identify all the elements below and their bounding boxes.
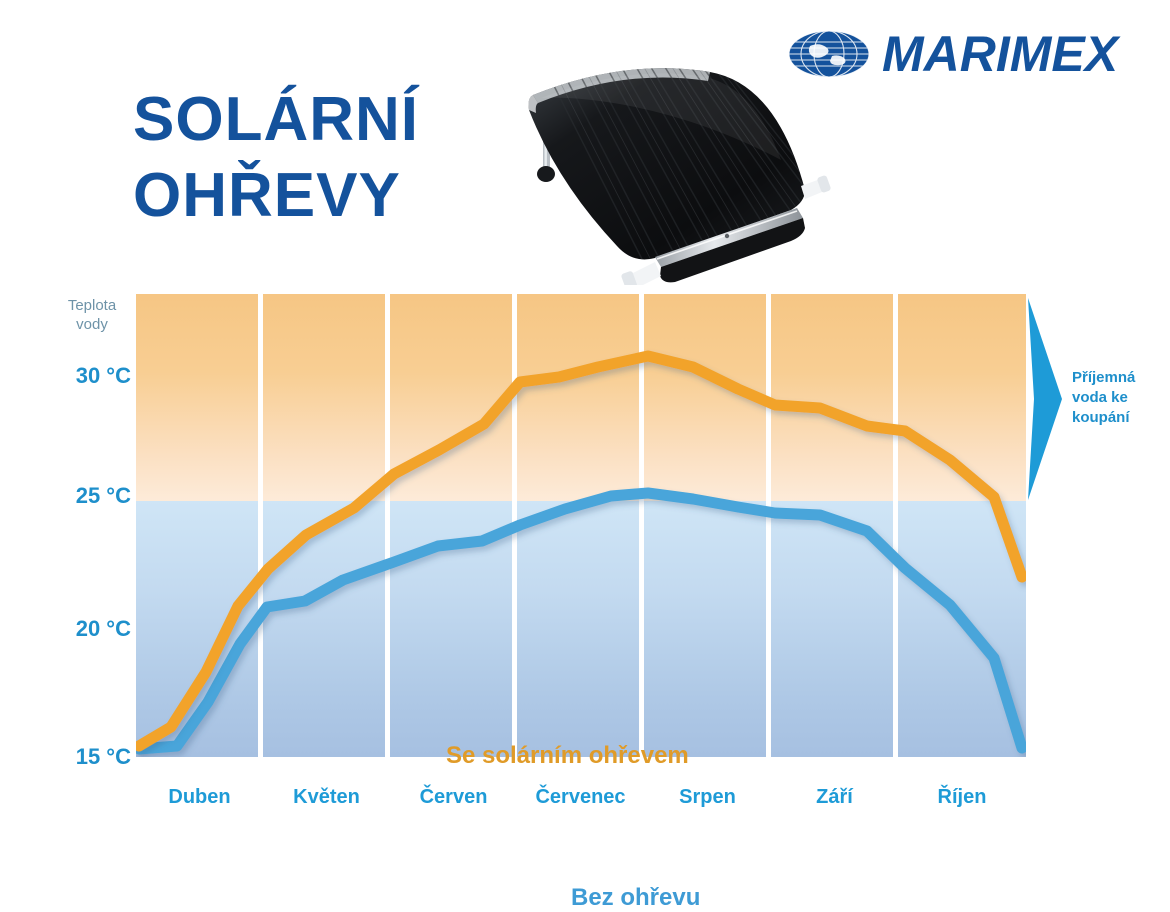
x-axis-tick-srpen: Srpen: [644, 786, 771, 809]
y-axis-caption-line-2: vody: [53, 315, 131, 334]
temperature-chart: Se solárním ohřevem Bez ohřevu: [136, 294, 1026, 757]
y-axis-caption-line-1: Teplota: [53, 296, 131, 315]
annotation-line-1: Příjemná: [1072, 368, 1164, 388]
poster-canvas: SOLÁRNÍ OHŘEVY MARIMEX: [0, 0, 1170, 860]
x-axis-tick-rijen: Říjen: [898, 786, 1026, 809]
chart-plot-area: [136, 294, 1026, 757]
series-line-bez-ohrevu: [139, 493, 1022, 749]
page-title: SOLÁRNÍ OHŘEVY: [133, 82, 419, 234]
x-axis-tick-cerven: Červen: [390, 786, 517, 809]
annotation-line-2: voda ke: [1072, 388, 1164, 408]
y-axis-tick-25: 25 °C: [25, 483, 131, 509]
y-axis-tick-20: 20 °C: [25, 616, 131, 642]
y-axis-caption: Teplota vody: [53, 296, 131, 334]
brand-name: MARIMEX: [882, 29, 1118, 79]
series-label-no-heating: Bez ohřevu: [571, 884, 700, 912]
x-axis-tick-kveten: Květen: [263, 786, 390, 809]
title-line-2: OHŘEVY: [133, 158, 419, 234]
solar-panel-image: [505, 50, 845, 285]
annotation-comfortable-water: Příjemná voda ke koupání: [1072, 368, 1164, 428]
title-line-1: SOLÁRNÍ: [133, 85, 419, 154]
x-axis-tick-cervenec: Červenec: [517, 786, 644, 809]
annotation-line-3: koupání: [1072, 408, 1164, 428]
x-axis-tick-duben: Duben: [136, 786, 263, 809]
y-axis-tick-30: 30 °C: [25, 363, 131, 389]
series-label-solar: Se solárním ohřevem: [446, 742, 689, 770]
y-axis-tick-15: 15 °C: [25, 744, 131, 770]
x-axis-tick-zari: Září: [771, 786, 898, 809]
right-arrow-bracket-icon: [1028, 298, 1062, 500]
